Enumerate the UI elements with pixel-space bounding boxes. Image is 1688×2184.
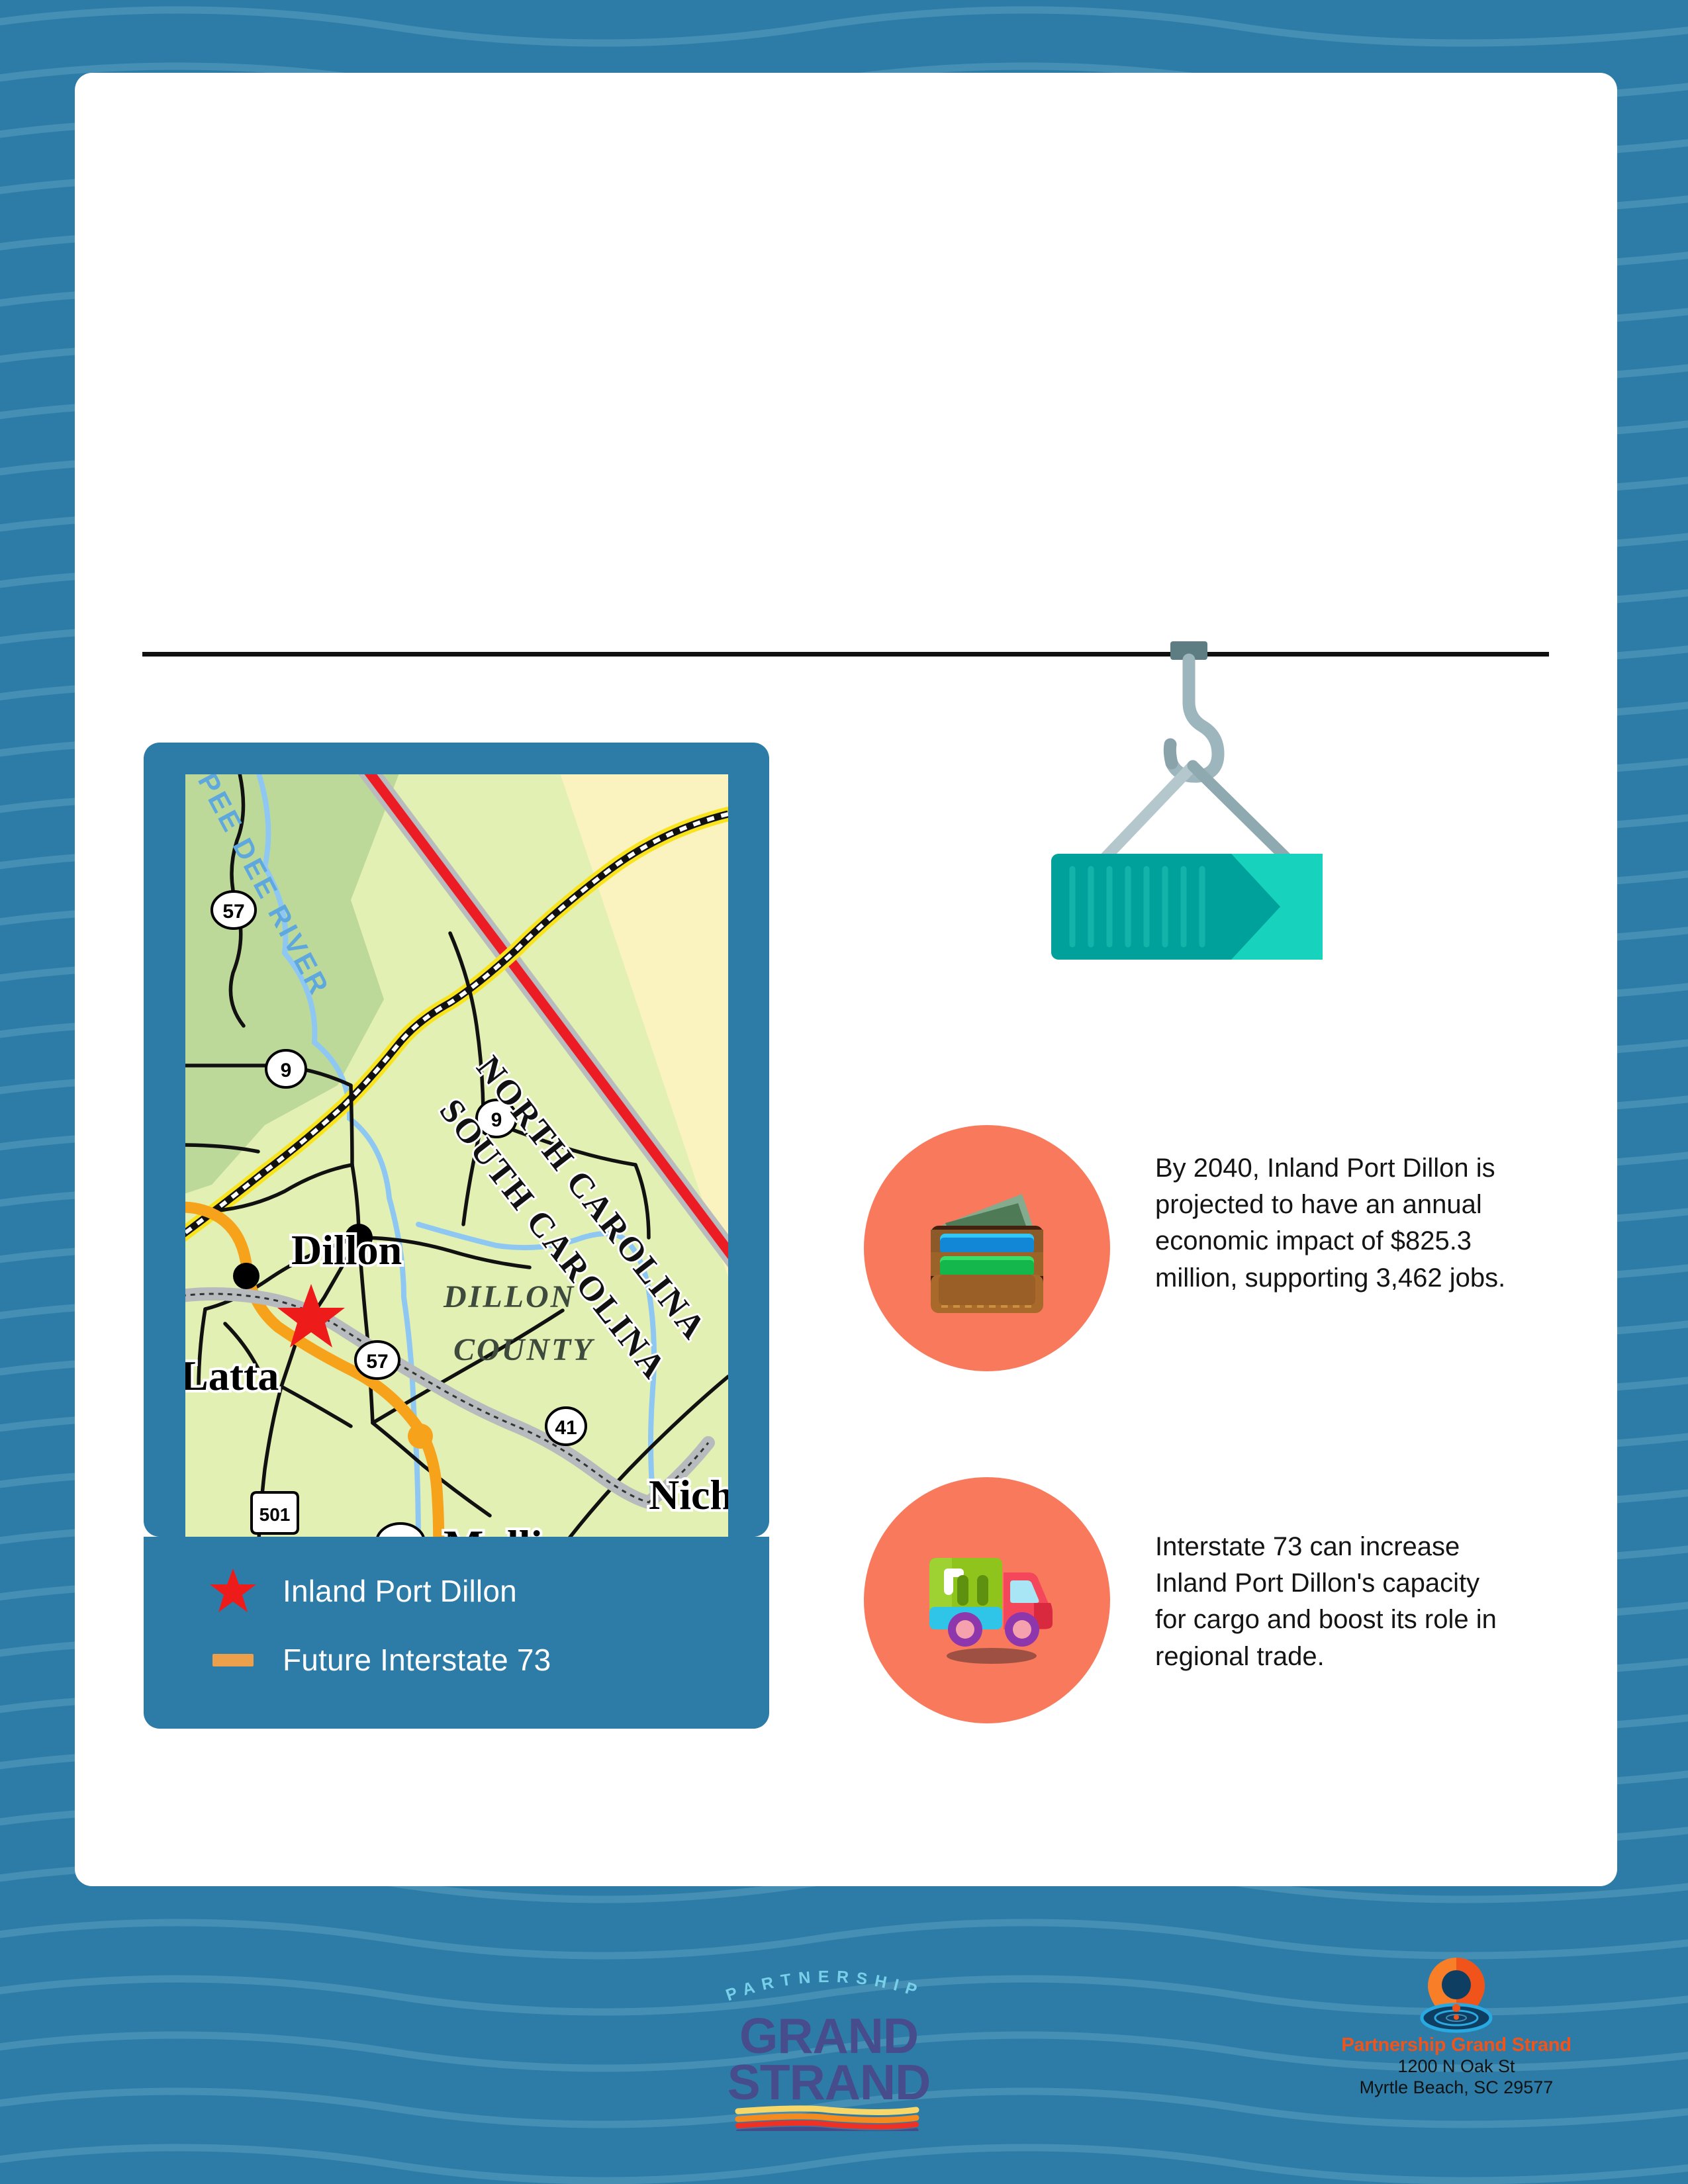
legend-item-inland-port: Inland Port Dillon [144,1557,769,1625]
svg-text:PARTNERSHIP: PARTNERSHIP [724,1968,926,2005]
location-pin-icon [1317,1956,1595,2035]
map-panel: 57 9 9 57 41 501 41A PEE DEE RIVER NORTH [144,743,769,1537]
legend-label-inland-port: Inland Port Dillon [283,1573,517,1609]
svg-text:Latta: Latta [185,1352,279,1399]
wallet-icon [864,1125,1110,1371]
stat-block-cargo-capacity: Interstate 73 can increase Inland Port D… [864,1477,1516,1723]
red-star-icon [183,1567,283,1615]
svg-text:DILLON: DILLON [443,1279,575,1314]
svg-text:9: 9 [281,1060,292,1081]
svg-text:Mullins: Mullins [444,1522,583,1537]
logo-arc-text: PARTNERSHIP [724,1968,926,2005]
map-legend: Inland Port Dillon Future Interstate 73 [144,1537,769,1729]
address-organization: Partnership Grand Strand [1317,2035,1595,2056]
svg-text:57: 57 [222,901,244,923]
stat-text-cargo-capacity: Interstate 73 can increase Inland Port D… [1155,1529,1516,1675]
shipping-container-crane-illustration [1013,639,1357,963]
address-street: 1200 N Oak St [1317,2056,1595,2077]
svg-text:COUNTY: COUNTY [453,1332,594,1367]
svg-text:501: 501 [259,1504,291,1525]
legend-item-future-i73: Future Interstate 73 [144,1625,769,1694]
svg-text:41: 41 [555,1417,577,1439]
address-city: Myrtle Beach, SC 29577 [1317,2077,1595,2099]
logo-wave-bars [738,2109,916,2131]
svg-text:57: 57 [366,1351,388,1373]
partnership-grand-strand-logo: PARTNERSHIP GRAND STRAND [696,1952,961,2131]
orange-dash-icon [183,1654,283,1666]
svg-text:9: 9 [491,1109,502,1131]
stat-text-economic-impact: By 2040, Inland Port Dillon is projected… [1155,1150,1516,1297]
footer-address-block: Partnership Grand Strand 1200 N Oak St M… [1317,1956,1595,2099]
map-image: 57 9 9 57 41 501 41A PEE DEE RIVER NORTH [185,774,728,1537]
stat-block-economic-impact: By 2040, Inland Port Dillon is projected… [864,1125,1516,1371]
svg-text:Dillon: Dillon [291,1226,402,1273]
cargo-truck-icon [864,1477,1110,1723]
legend-label-future-i73: Future Interstate 73 [283,1642,551,1678]
logo-line-strand: STRAND [727,2054,931,2110]
svg-text:Nichols: Nichols [649,1471,728,1518]
